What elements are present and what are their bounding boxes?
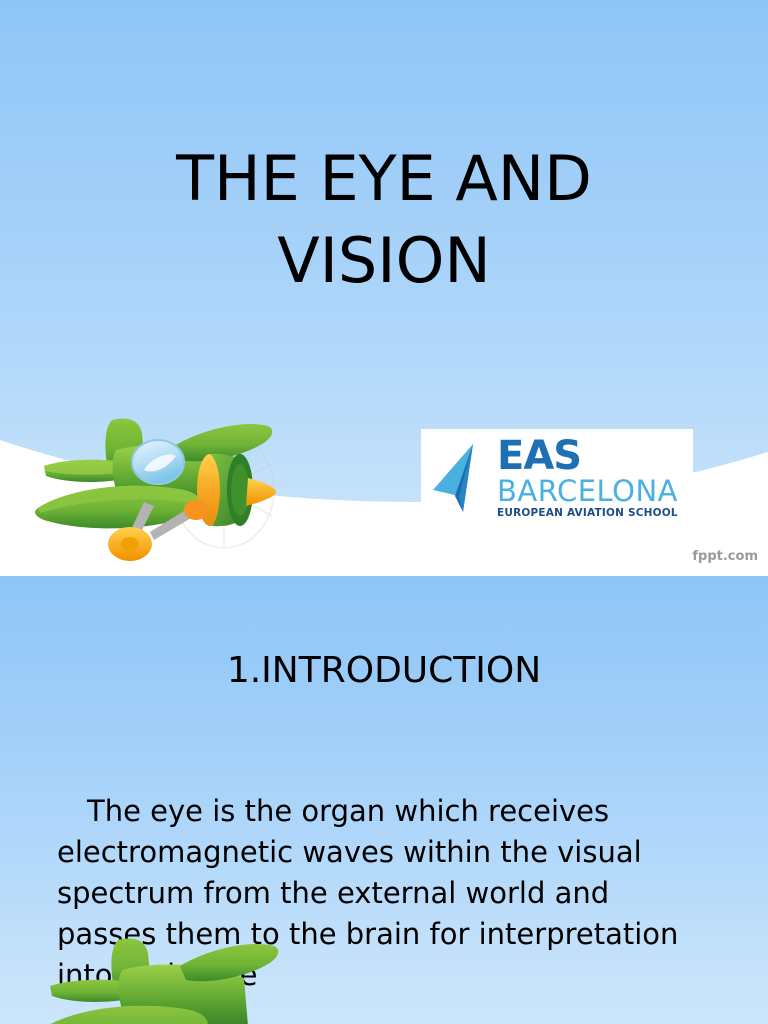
page-title: THE EYE AND VISION bbox=[0, 138, 768, 303]
airplane-icon bbox=[30, 934, 290, 1024]
paper-plane-icon bbox=[429, 442, 491, 514]
slide-1: THE EYE AND VISION bbox=[0, 0, 768, 576]
section-heading: 1.INTRODUCTION bbox=[0, 650, 768, 691]
logo-tagline-text: EUROPEAN AVIATION SCHOOL bbox=[497, 508, 678, 519]
title-line-2: VISION bbox=[277, 224, 491, 297]
title-line-1: THE EYE AND bbox=[176, 142, 592, 215]
logo-primary-text: EAS bbox=[497, 436, 678, 476]
logo-text-block: EAS BARCELONA EUROPEAN AVIATION SCHOOL bbox=[497, 436, 678, 519]
fppt-watermark: fppt.com bbox=[692, 549, 758, 564]
airplane-icon bbox=[24, 414, 284, 564]
eas-barcelona-logo: EAS BARCELONA EUROPEAN AVIATION SCHOOL bbox=[421, 429, 693, 526]
slide-deck: THE EYE AND VISION bbox=[0, 0, 768, 1024]
slide-2: 1.INTRODUCTION The eye is the organ whic… bbox=[0, 576, 768, 1024]
logo-secondary-text: BARCELONA bbox=[497, 477, 678, 506]
